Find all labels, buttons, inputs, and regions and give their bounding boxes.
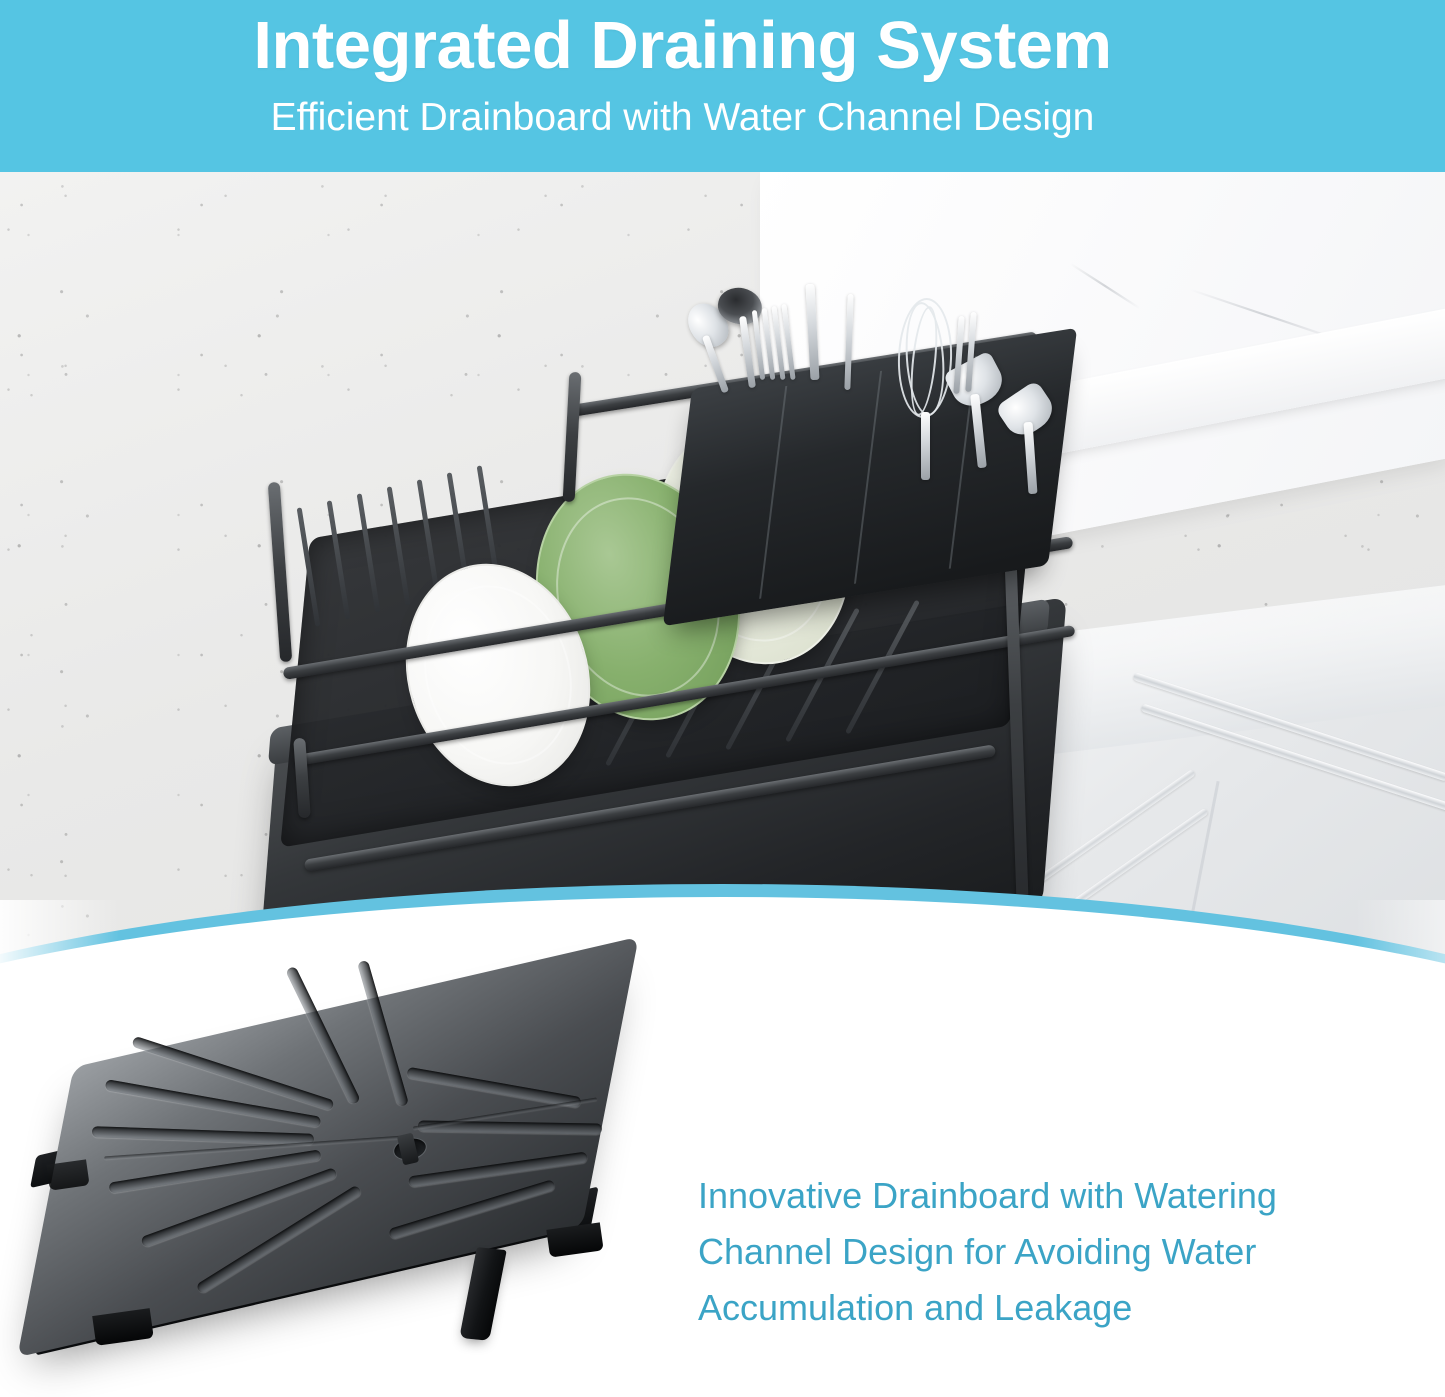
- page-subtitle: Efficient Drainboard with Water Channel …: [0, 98, 1365, 137]
- drainboard-spout: [459, 1247, 506, 1341]
- caption-line-3: Accumulation and Leakage: [698, 1280, 1438, 1336]
- page-title: Integrated Draining System: [0, 12, 1365, 79]
- knife-blade: [805, 284, 819, 380]
- drainboard-foot: [546, 1222, 603, 1257]
- whisk-handle: [921, 412, 930, 480]
- drainboard-product-shot: [8, 990, 668, 1380]
- product-marketing-image: Integrated Draining System Efficient Dra…: [0, 0, 1445, 1397]
- rack-frame-rail: [268, 482, 293, 662]
- dish-drying-rack: [250, 272, 1080, 992]
- caption-line-2: Channel Design for Avoiding Water: [698, 1224, 1438, 1280]
- drainboard-foot: [46, 1159, 89, 1190]
- drainboard-body: [17, 937, 639, 1358]
- header-banner: Integrated Draining System Efficient Dra…: [0, 0, 1445, 172]
- rack-frame-rail: [563, 372, 582, 502]
- feature-caption: Innovative Drainboard with Watering Chan…: [698, 1168, 1438, 1336]
- caption-line-1: Innovative Drainboard with Watering: [698, 1168, 1438, 1224]
- drainboard-foot: [92, 1308, 154, 1346]
